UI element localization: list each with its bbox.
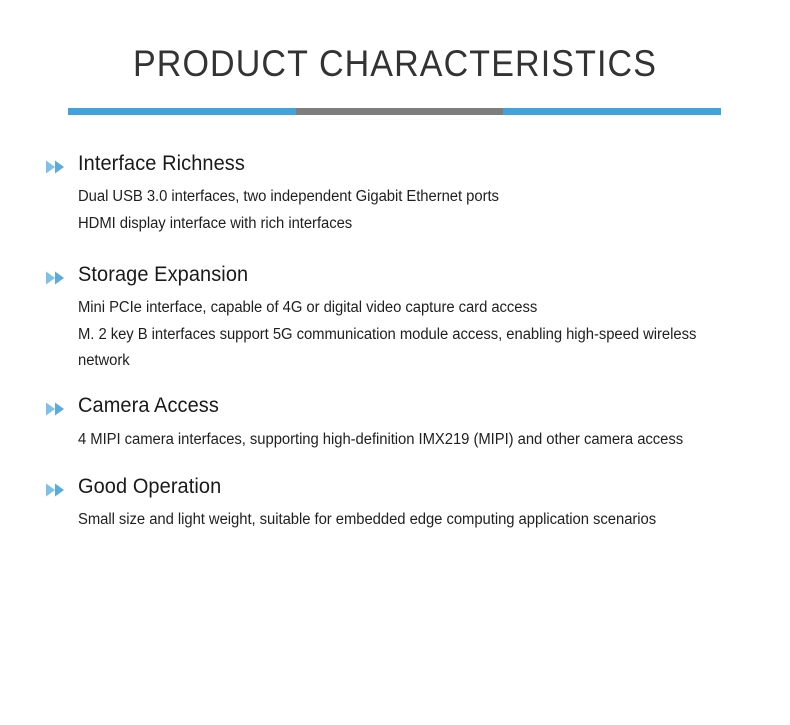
section-body: 4 MIPI camera interfaces, supporting hig… (78, 427, 790, 453)
section-body: Small size and light weight, suitable fo… (78, 507, 790, 533)
body-line: Small size and light weight, suitable fo… (78, 507, 718, 533)
section-camera-access: Camera Access 4 MIPI camera interfaces, … (0, 392, 790, 453)
body-line: Mini PCIe interface, capable of 4G or di… (78, 295, 718, 321)
section-storage-expansion: Storage Expansion Mini PCIe interface, c… (0, 261, 790, 374)
section-heading: Camera Access (78, 392, 754, 420)
section-body: Dual USB 3.0 interfaces, two independent… (78, 184, 790, 237)
body-line: Dual USB 3.0 interfaces, two independent… (78, 184, 718, 210)
characteristics-list: Interface Richness Dual USB 3.0 interfac… (0, 150, 790, 533)
body-line: 4 MIPI camera interfaces, supporting hig… (78, 427, 718, 453)
section-good-operation: Good Operation Small size and light weig… (0, 473, 790, 534)
section-body: Mini PCIe interface, capable of 4G or di… (78, 295, 790, 374)
section-heading: Storage Expansion (78, 261, 754, 289)
title-divider-bar (68, 108, 721, 115)
double-chevron-right-icon (46, 483, 66, 497)
title-block: PRODUCT CHARACTERISTICS (0, 0, 790, 85)
section-heading: Good Operation (78, 473, 754, 501)
body-line: M. 2 key B interfaces support 5G communi… (78, 322, 718, 375)
double-chevron-right-icon (46, 271, 66, 285)
page-title: PRODUCT CHARACTERISTICS (32, 44, 759, 85)
double-chevron-right-icon (46, 402, 66, 416)
product-characteristics-page: PRODUCT CHARACTERISTICS Interface Richne… (0, 0, 790, 725)
section-interface-richness: Interface Richness Dual USB 3.0 interfac… (0, 150, 790, 237)
divider-segment-right (503, 108, 721, 115)
body-line: HDMI display interface with rich interfa… (78, 211, 718, 237)
double-chevron-right-icon (46, 160, 66, 174)
divider-segment-middle (296, 108, 503, 115)
divider-segment-left (68, 108, 296, 115)
section-heading: Interface Richness (78, 150, 754, 178)
